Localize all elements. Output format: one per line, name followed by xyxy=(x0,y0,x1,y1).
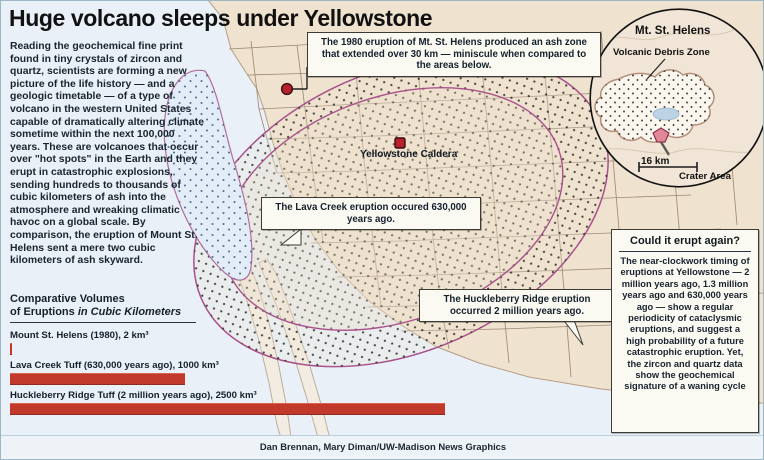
panel-title: Could it erupt again? xyxy=(619,235,751,247)
chart-title-line2: of Eruptions xyxy=(10,306,78,318)
bar-label-msh: Mount St. Helens (1980), 2 km³ xyxy=(10,330,470,341)
map-label-yellowstone-caldera: Yellowstone Caldera xyxy=(360,149,457,160)
chart-title: Comparative Volumes of Eruptions in Cubi… xyxy=(10,293,196,319)
bar-label-lava-creek: Lava Creek Tuff (630,000 years ago), 100… xyxy=(10,360,470,371)
marker-yellowstone-caldera xyxy=(395,138,405,148)
bar-lava-creek xyxy=(10,373,185,385)
page-title: Huge volcano sleeps under Yellowstone xyxy=(9,5,432,31)
credit-line: Dan Brennan, Mary Diman/UW-Madison News … xyxy=(1,441,764,452)
lede-paragraph: Reading the geochemical fine print found… xyxy=(10,41,206,268)
bar-label-huckleberry: Huckleberry Ridge Tuff (2 million years … xyxy=(10,390,470,401)
bar-msh xyxy=(10,343,12,355)
chart-rule xyxy=(10,322,196,323)
bar-row-lava-creek: Lava Creek Tuff (630,000 years ago), 100… xyxy=(10,360,470,385)
side-panel-erupt-again: Could it erupt again? The near-clockwork… xyxy=(611,229,759,433)
bar-huckleberry xyxy=(10,403,445,415)
callout-lava-creek: The Lava Creek eruption occured 630,000 … xyxy=(261,197,481,230)
callout-mt-st-helens: The 1980 eruption of Mt. St. Helens prod… xyxy=(307,32,601,77)
bar-row-huckleberry: Huckleberry Ridge Tuff (2 million years … xyxy=(10,390,470,415)
comparative-volumes-chart: Comparative Volumes of Eruptions in Cubi… xyxy=(10,293,470,420)
inset-map-mt-st-helens xyxy=(591,10,764,186)
infographic-root: Huge volcano sleeps under Yellowstone Re… xyxy=(0,0,764,460)
panel-rule xyxy=(619,251,751,252)
chart-title-line1: Comparative Volumes xyxy=(10,293,125,305)
callout-huckleberry-ridge: The Huckleberry Ridge eruption occurred … xyxy=(419,289,615,322)
panel-body: The near-clockwork timing of eruptions a… xyxy=(619,256,751,393)
marker-mt-st-helens xyxy=(282,84,293,95)
bar-row-msh: Mount St. Helens (1980), 2 km³ xyxy=(10,330,470,355)
chart-title-units: in Cubic Kilometers xyxy=(78,306,181,318)
